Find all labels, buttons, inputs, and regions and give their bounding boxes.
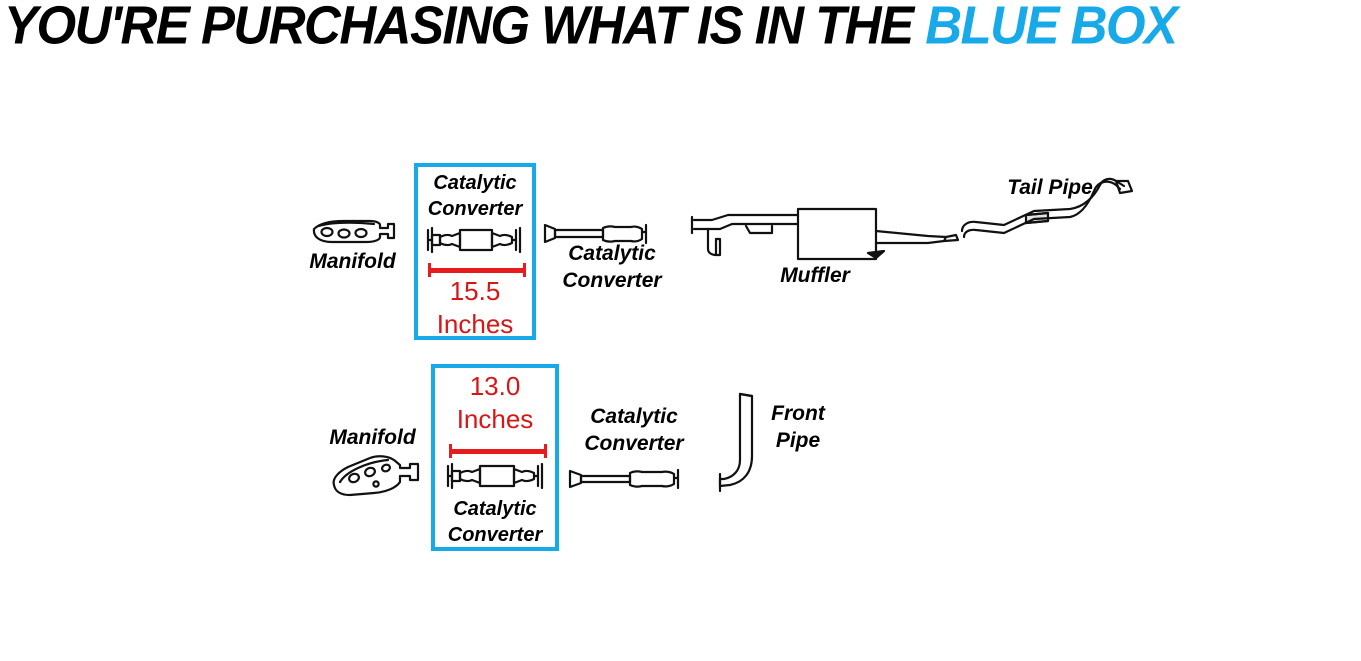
- banner-text-group: YOU'RE PURCHASING WHAT IS IN THE BLUE BO…: [4, 0, 1177, 52]
- measurement-text-top: 15.5 Inches: [418, 275, 532, 341]
- catalytic-converter-icon: [426, 224, 526, 258]
- label-manifold-top: Manifold: [290, 248, 415, 275]
- exhaust-manifold-icon: [310, 216, 400, 250]
- label-front-pipe: Front Pipe: [748, 400, 848, 454]
- muffler-icon: [690, 205, 962, 267]
- label-muffler: Muffler: [745, 262, 885, 289]
- blue-highlight-box-top: Catalytic Converter 15.5 Inches: [414, 163, 536, 340]
- label-catalytic-converter-boxed-top: Catalytic Converter: [418, 170, 532, 222]
- banner: YOU'RE PURCHASING WHAT IS IN THE BLUE BO…: [0, 0, 1361, 52]
- measurement-bar-line: [452, 449, 544, 454]
- measurement-bar-cap-right: [544, 444, 547, 458]
- catalytic-converter-icon: [446, 461, 550, 493]
- catalytic-converter-icon: [568, 464, 686, 494]
- label-tail-pipe: Tail Pipe: [985, 174, 1115, 201]
- label-manifold-bottom: Manifold: [310, 424, 435, 451]
- label-catalytic-converter-top-second: Catalytic Converter: [548, 240, 676, 294]
- measurement-bar-line: [431, 268, 523, 273]
- banner-text-blue: BLUE BOX: [925, 0, 1176, 52]
- banner-text-black: YOU'RE PURCHASING WHAT IS IN THE: [4, 0, 925, 52]
- label-catalytic-converter-boxed-bottom: Catalytic Converter: [435, 496, 555, 548]
- measurement-text-bottom: 13.0 Inches: [435, 370, 555, 436]
- blue-highlight-box-bottom: 13.0 Inches Catalytic Converter: [431, 364, 559, 551]
- label-catalytic-converter-bottom-second: Catalytic Converter: [570, 403, 698, 457]
- measurement-bar-bottom: [449, 444, 547, 458]
- exhaust-manifold-icon: [330, 456, 426, 498]
- diagram-page: YOU'RE PURCHASING WHAT IS IN THE BLUE BO…: [0, 0, 1361, 661]
